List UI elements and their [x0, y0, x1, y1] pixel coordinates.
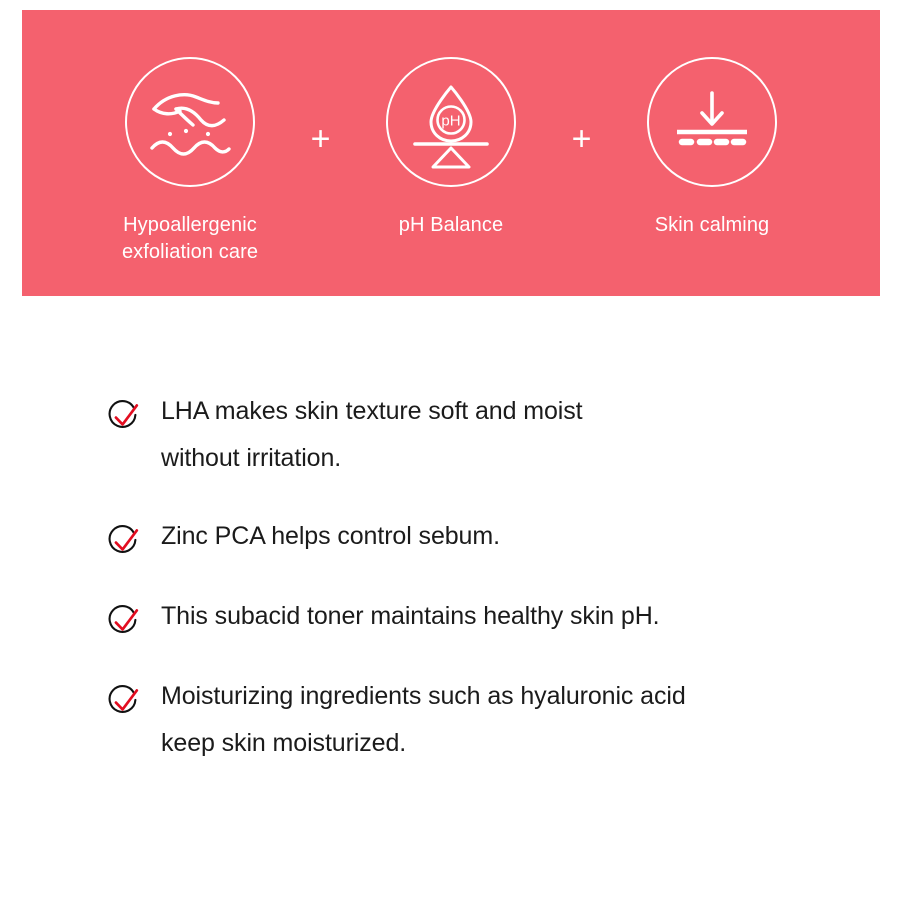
wavy-lines-icon [152, 142, 229, 154]
plus-separator-1: + [298, 10, 344, 156]
features-row: Hypoallergenic exfoliation care + pH pH … [22, 10, 880, 296]
check-circle-icon [105, 524, 143, 562]
feature-label: Skin calming [655, 212, 770, 239]
benefits-list: LHA makes skin texture soft and moist wi… [105, 398, 865, 767]
list-item: LHA makes skin texture soft and moist wi… [105, 398, 865, 482]
hand-over-wavy-skin-icon [138, 70, 242, 174]
down-arrow-over-skin-layer-icon [660, 70, 764, 174]
ph-droplet-balance-icon: pH [399, 70, 503, 174]
features-banner: Hypoallergenic exfoliation care + pH pH … [22, 10, 880, 296]
list-item: This subacid toner maintains healthy ski… [105, 603, 865, 642]
list-item-text: LHA makes skin texture soft and moist wi… [161, 388, 582, 482]
list-item-text: This subacid toner maintains healthy ski… [161, 593, 660, 640]
feature-ph-balance: pH pH Balance [344, 10, 559, 239]
feature-label: pH Balance [399, 212, 503, 239]
skin-dots-icon [168, 129, 210, 136]
check-circle-icon [105, 604, 143, 642]
list-item-text: Moisturizing ingredients such as hyaluro… [161, 673, 686, 767]
check-circle-icon [105, 684, 143, 722]
fulcrum-triangle-icon [433, 148, 469, 167]
feature-label: Hypoallergenic exfoliation care [122, 212, 258, 266]
feature-skin-calming: Skin calming [605, 10, 820, 239]
list-item-text: Zinc PCA helps control sebum. [161, 513, 500, 560]
down-arrow-icon [702, 93, 722, 124]
feature-icon-circle [125, 57, 255, 187]
feature-icon-circle: pH [386, 57, 516, 187]
plus-separator-2: + [559, 10, 605, 156]
feature-icon-circle [647, 57, 777, 187]
feature-hypoallergenic-exfoliation: Hypoallergenic exfoliation care [83, 10, 298, 266]
check-circle-icon [105, 399, 143, 437]
ph-label-icon-text: pH [441, 113, 460, 130]
list-item: Moisturizing ingredients such as hyaluro… [105, 683, 865, 767]
list-item: Zinc PCA helps control sebum. [105, 523, 865, 562]
